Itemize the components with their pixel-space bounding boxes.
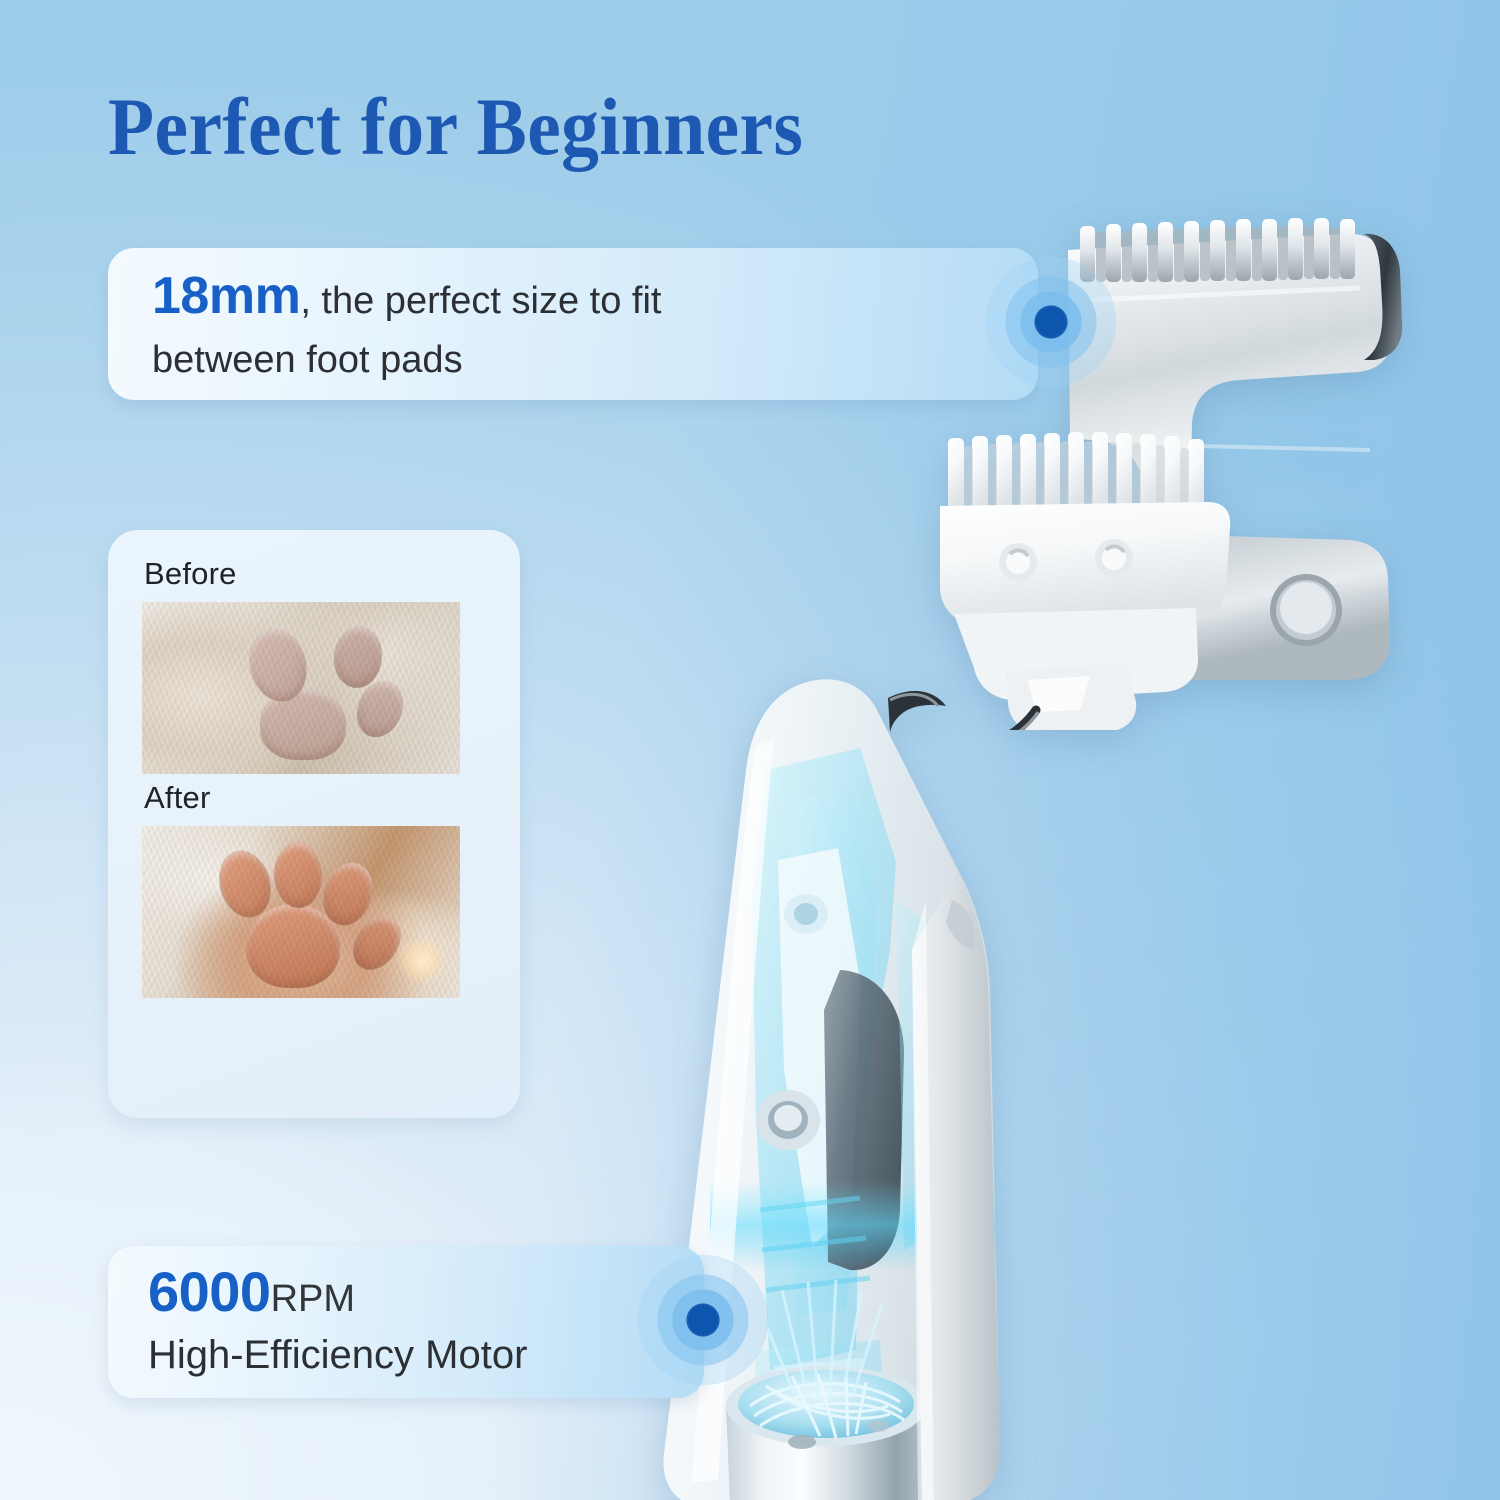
callout-size-highlight: 18mm	[152, 267, 300, 325]
callout-motor-line1: 6000RPM	[148, 1260, 704, 1324]
metal-lever-hook	[888, 691, 946, 732]
light-glint	[398, 938, 444, 984]
trimmer-side-panel	[912, 872, 1000, 1500]
before-after-card: Before After	[108, 530, 520, 1118]
metal-drive-arm	[974, 710, 1036, 730]
after-label: After	[144, 780, 486, 816]
product-feature-graphic: Perfect for Beginners 18mm, the perfect …	[0, 0, 1500, 1500]
trimmer-internals	[710, 748, 1010, 1500]
callout-motor-line2: High-Efficiency Motor	[148, 1327, 704, 1384]
after-paw-photo	[142, 826, 460, 998]
callout-size-rest: , the perfect size to fit	[300, 280, 661, 322]
before-label: Before	[144, 556, 486, 592]
fur-texture	[142, 602, 460, 774]
ceramic-blade	[940, 432, 1230, 730]
callout-size: 18mm, the perfect size to fit between fo…	[108, 248, 1038, 400]
page-title: Perfect for Beginners	[108, 86, 803, 168]
before-paw-photo	[142, 602, 460, 774]
steel-blade	[1068, 218, 1402, 680]
blue-dot-marker-icon	[981, 252, 1121, 392]
callout-motor-highlight: 6000	[148, 1260, 271, 1323]
callout-size-line1: 18mm, the perfect size to fit	[152, 260, 1038, 334]
callout-motor: 6000RPM High-Efficiency Motor	[108, 1246, 704, 1398]
blue-dot-marker-icon	[633, 1250, 773, 1390]
callout-motor-unit: RPM	[271, 1278, 355, 1320]
callout-size-line2: between foot pads	[152, 334, 1038, 388]
